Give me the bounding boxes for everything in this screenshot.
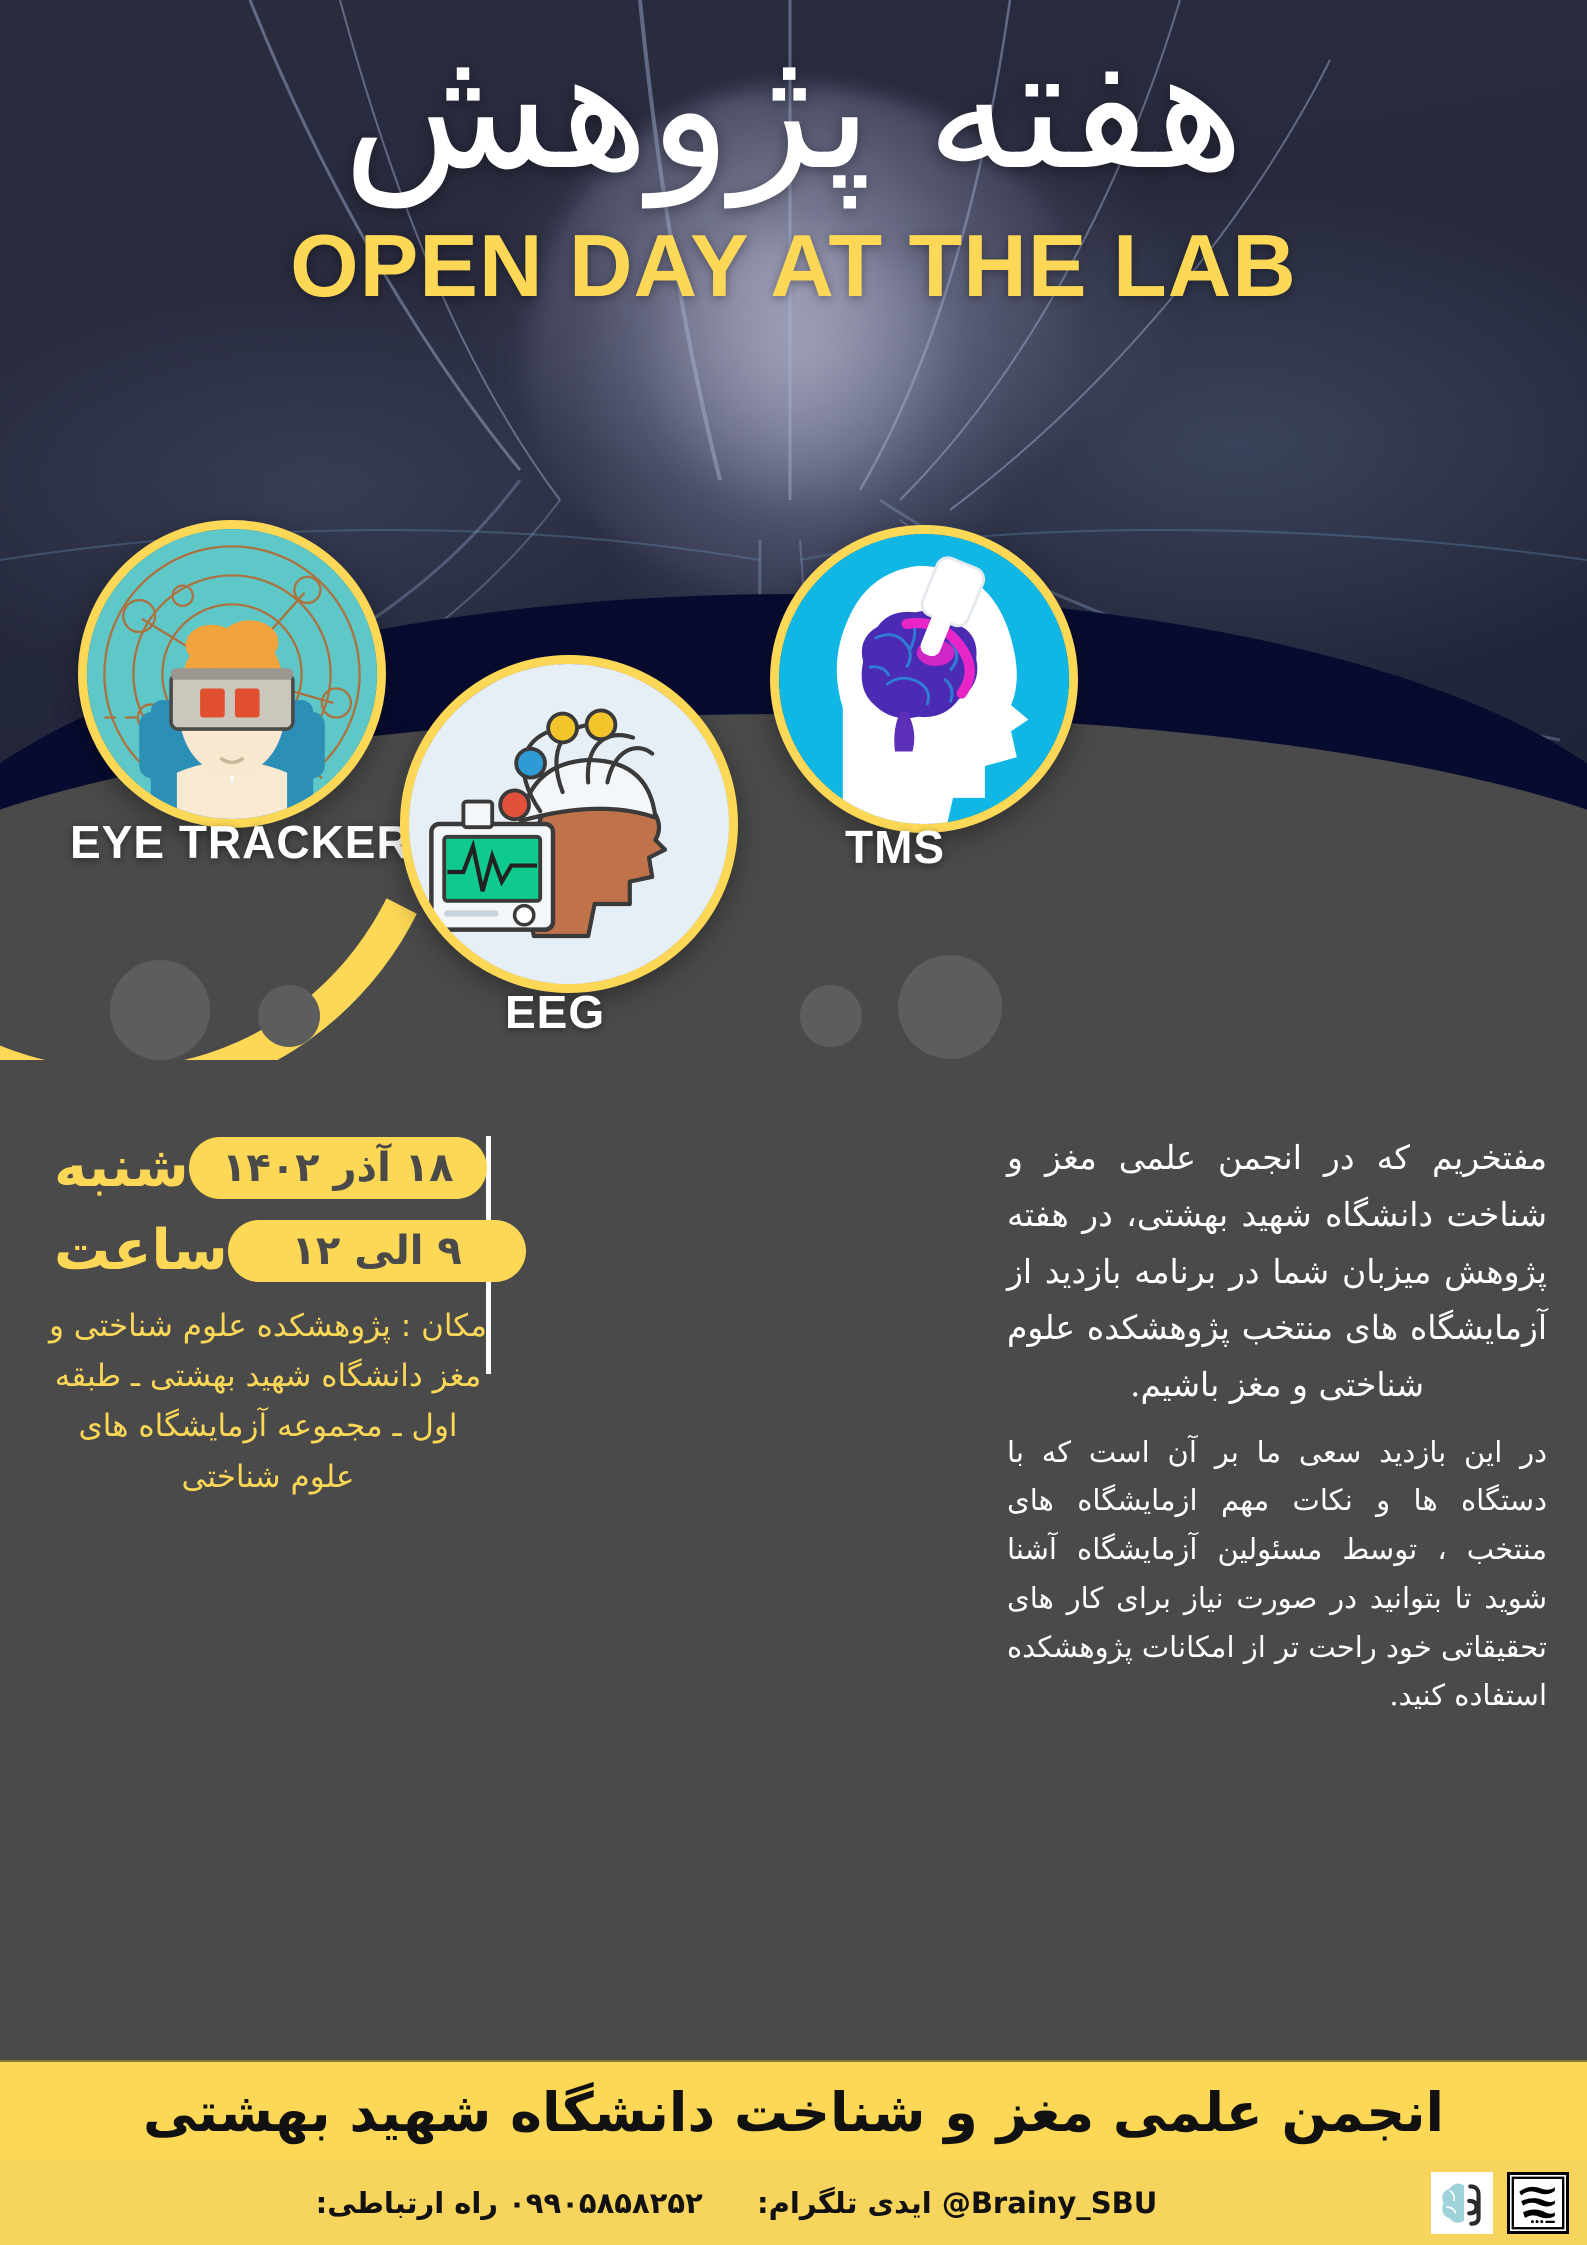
footer-logos <box>1413 2172 1587 2234</box>
event-time-pill: ۹ الی ۱۲ <box>228 1220 526 1282</box>
station-label-tms: TMS <box>845 820 945 874</box>
station-circle-tms <box>770 525 1078 833</box>
station-circle-eye-tracker <box>78 520 386 828</box>
station-label-eye-tracker: EYE TRACKER <box>70 815 411 869</box>
eye-tracker-icon <box>87 529 377 819</box>
organization-name: انجمن علمی مغز و شناخت دانشگاه شهید بهشت… <box>143 2081 1444 2144</box>
brain-association-logo-icon <box>1431 2172 1493 2234</box>
organization-banner: انجمن علمی مغز و شناخت دانشگاه شهید بهشت… <box>0 2060 1587 2162</box>
event-date-pill: ۱۸ آذر ۱۴۰۲ <box>189 1137 487 1199</box>
station-circle-eeg <box>400 655 738 993</box>
footer-bar: @Brainy_SBU ایدی تلگرام: ۰۹۹۰۵۸۵۸۲۵۲ راه… <box>0 2160 1587 2245</box>
telegram-handle[interactable]: @Brainy_SBU <box>942 2186 1158 2220</box>
poster-title-persian: هفته پژوهش <box>0 20 1587 199</box>
footer-contact-info: @Brainy_SBU ایدی تلگرام: ۰۹۹۰۵۸۵۸۲۵۲ راه… <box>0 2186 1413 2220</box>
poster-root: هفته پژوهش OPEN DAY AT THE LAB <box>0 0 1587 2245</box>
station-label-eeg: EEG <box>505 985 605 1039</box>
event-details-column: شنبه ۱۸ آذر ۱۴۰۲ ساعت ۹ الی ۱۲ مکان : پژ… <box>40 1135 490 1502</box>
event-time-row: ساعت ۹ الی ۱۲ <box>40 1218 490 1283</box>
eeg-icon <box>409 664 729 984</box>
decorative-bubble <box>898 955 1002 1059</box>
poster-title-english: OPEN DAY AT THE LAB <box>0 215 1587 317</box>
event-time-label: ساعت <box>54 1218 228 1283</box>
decorative-bubble <box>258 985 320 1047</box>
telegram-label: ایدی تلگرام: <box>757 2186 932 2220</box>
event-day-label: شنبه <box>54 1135 189 1200</box>
shahid-beheshti-university-logo-icon <box>1507 2172 1569 2234</box>
decorative-bubble <box>110 960 210 1060</box>
contact-phone: ۰۹۹۰۵۸۵۸۲۵۲ <box>508 2186 703 2220</box>
description-paragraph-2: در این بازدید سعی ما بر آن است که با دست… <box>1007 1428 1547 1720</box>
description-column: مفتخریم که در انجمن علمی مغز و شناخت دان… <box>1007 1130 1547 1720</box>
decorative-bubble <box>800 985 862 1047</box>
event-date-row: شنبه ۱۸ آذر ۱۴۰۲ <box>40 1135 490 1200</box>
event-location-text: مکان : پژوهشکده علوم شناختی و مغز دانشگا… <box>40 1301 490 1502</box>
contact-label: راه ارتباطی: <box>316 2186 498 2220</box>
tms-icon <box>779 534 1069 824</box>
description-paragraph-1: مفتخریم که در انجمن علمی مغز و شناخت دان… <box>1007 1130 1547 1414</box>
